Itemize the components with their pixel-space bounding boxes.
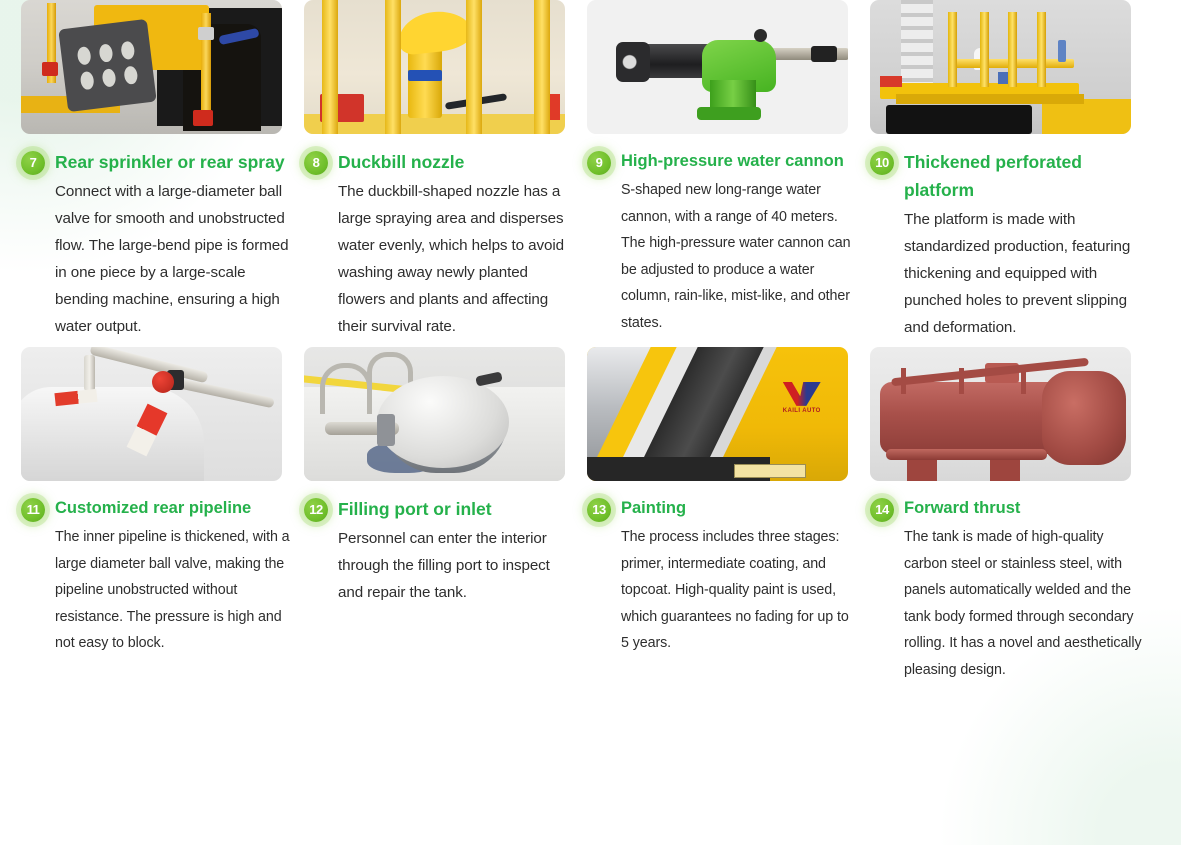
feature-body: The process includes three stages: prime… xyxy=(621,524,859,657)
feature-body: Personnel can enter the interior through… xyxy=(338,525,576,606)
feature-number-badge: 8 xyxy=(304,151,328,175)
feature-number-badge: 11 xyxy=(21,498,45,522)
rear-sprinkler-photo xyxy=(21,0,282,134)
feature-title: Filling port or inlet xyxy=(338,495,576,523)
feature-number-badge: 10 xyxy=(870,151,894,175)
water-cannon-photo xyxy=(587,0,848,134)
feature-card-11: 11 Customized rear pipeline The inner pi… xyxy=(21,347,293,683)
feature-card-8: 8 Duckbill nozzle The duckbill-shaped no… xyxy=(304,0,576,341)
feature-row-bottom: 11 Customized rear pipeline The inner pi… xyxy=(0,347,1181,683)
feature-card-7: 7 Rear sprinkler or rear spray Connect w… xyxy=(21,0,293,341)
brand-logo: KAILI AUTO xyxy=(774,382,830,422)
feature-card-10: 10 Thickened perforated platform The pla… xyxy=(870,0,1142,341)
feature-number-badge: 7 xyxy=(21,151,45,175)
feature-title: Duckbill nozzle xyxy=(338,148,576,176)
feature-number-badge: 12 xyxy=(304,498,328,522)
feature-number-badge: 14 xyxy=(870,498,894,522)
feature-number-badge: 9 xyxy=(587,151,611,175)
brand-logo-mark xyxy=(783,382,821,406)
feature-body: The platform is made with standardized p… xyxy=(904,206,1142,341)
feature-body: The inner pipeline is thickened, with a … xyxy=(55,524,293,657)
feature-title: Painting xyxy=(621,495,859,522)
feature-card-9: 9 High-pressure water cannon S-shaped ne… xyxy=(587,0,859,341)
feature-title: Forward thrust xyxy=(904,495,1142,522)
feature-card-14: 14 Forward thrust The tank is made of hi… xyxy=(870,347,1142,683)
feature-title: High-pressure water cannon xyxy=(621,148,859,175)
feature-title: Thickened perforated platform xyxy=(904,148,1142,204)
feature-title: Rear sprinkler or rear spray xyxy=(55,148,293,176)
feature-card-13: KAILI AUTO 13 Painting The process inclu… xyxy=(587,347,859,683)
feature-grid-page: 7 Rear sprinkler or rear spray Connect w… xyxy=(0,0,1181,845)
feature-card-12: 12 Filling port or inlet Personnel can e… xyxy=(304,347,576,683)
feature-row-top: 7 Rear sprinkler or rear spray Connect w… xyxy=(0,0,1181,341)
feature-body: S-shaped new long-range water cannon, wi… xyxy=(621,177,859,336)
perforated-platform-photo xyxy=(870,0,1131,134)
feature-title: Customized rear pipeline xyxy=(55,495,293,522)
feature-body: The tank is made of high-quality carbon … xyxy=(904,524,1142,683)
brand-logo-text: KAILI AUTO xyxy=(774,408,830,414)
feature-body: Connect with a large-diameter ball valve… xyxy=(55,178,293,340)
rear-pipeline-photo xyxy=(21,347,282,481)
painting-photo: KAILI AUTO xyxy=(587,347,848,481)
feature-number-badge: 13 xyxy=(587,498,611,522)
filling-port-photo xyxy=(304,347,565,481)
feature-body: The duckbill-shaped nozzle has a large s… xyxy=(338,178,576,340)
duckbill-nozzle-photo xyxy=(304,0,565,134)
forward-thrust-photo xyxy=(870,347,1131,481)
